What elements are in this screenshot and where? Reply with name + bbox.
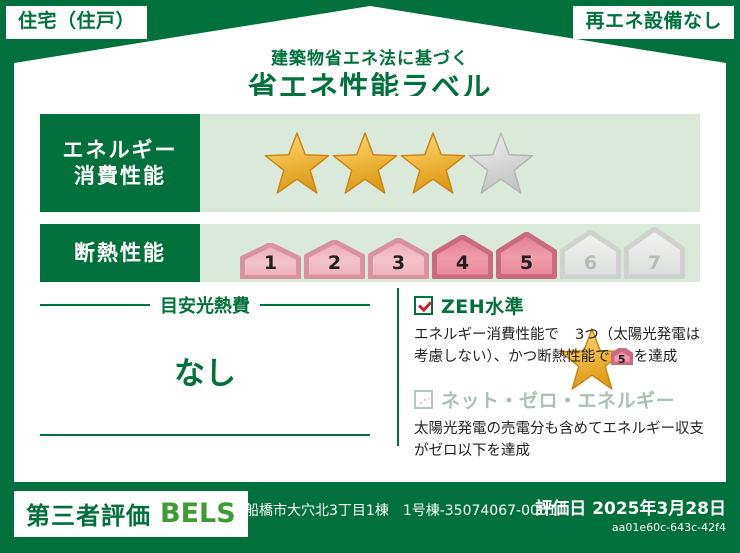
insulation-performance-value: 1234567 [200, 224, 700, 282]
bels-logo: 第三者評価 BELS [14, 491, 248, 537]
insulation-step: 3 [368, 238, 429, 279]
evaluation-info: 評価日 2025年3月28日 aa01e60c-643c-42f4 [535, 494, 726, 534]
badge-renewable-energy: 再エネ設備なし [573, 6, 734, 39]
bels-logo-jp: 第三者評価 [26, 496, 151, 531]
evaluation-date: 評価日 2025年3月28日 [535, 494, 726, 519]
utility-bottom-divider [40, 434, 370, 436]
utility-cost-value: なし [40, 348, 370, 393]
checkbox-checked-icon [414, 296, 433, 315]
energy-label-line2: 消費性能 [74, 163, 166, 189]
criterion-net-zero-header: ネット・ゼロ・エネルギー [414, 386, 710, 413]
insulation-step: 5 [496, 232, 557, 278]
criterion-zeh-description: エネルギー消費性能で3つ（太陽光発電は考慮しない）、かつ断熱性能で5を達成 [414, 324, 710, 369]
criterion-zeh-title: ZEH水準 [441, 292, 524, 319]
insulation-step: 2 [304, 240, 365, 279]
insulation-scale: 1234567 [240, 227, 685, 279]
house-empty-icon [624, 227, 685, 279]
utility-cost-title: 目安光熱費 [40, 292, 370, 318]
insulation-step: 4 [432, 235, 493, 279]
star-filled-icon [400, 130, 466, 196]
energy-performance-value [200, 114, 700, 212]
property-address: 船橋市大穴北3丁目1棟 1号棟-35074067-0001 [245, 500, 557, 520]
star-filled-icon [332, 130, 398, 196]
energy-performance-row: エネルギー 消費性能 [14, 114, 726, 212]
criteria-list: ZEH水準 エネルギー消費性能で3つ（太陽光発電は考慮しない）、かつ断熱性能で5… [414, 292, 710, 463]
insulation-performance-row: 断熱性能 1234567 [14, 224, 726, 282]
badge-building-type: 住宅（住戸） [6, 6, 147, 39]
insulation-performance-label: 断熱性能 [40, 224, 200, 282]
label-body: エネルギー 消費性能 断熱性能 1234567 目安光熱費 なし [14, 96, 726, 482]
house-empty-icon [560, 230, 621, 279]
criterion-net-zero-title: ネット・ゼロ・エネルギー [441, 386, 675, 413]
house-filled-icon [496, 232, 557, 278]
house-badge-icon: 5 [611, 348, 633, 365]
criterion-net-zero-description: 太陽光発電の売電分も含めてエネルギー収支がゼロ以下を達成 [414, 418, 710, 463]
checkbox-unchecked-icon [414, 390, 433, 409]
zeh-desc-part3: を達成 [634, 349, 678, 365]
star-empty-icon [468, 130, 534, 196]
house-filled-icon [368, 238, 429, 279]
insulation-step: 1 [240, 243, 301, 279]
criterion-zeh-header: ZEH水準 [414, 292, 710, 319]
insulation-step: 7 [624, 227, 685, 279]
bels-logo-en: BELS [160, 498, 236, 529]
evaluation-id: aa01e60c-643c-42f4 [535, 521, 726, 534]
star-rating [264, 130, 534, 196]
house-filled-icon [240, 243, 301, 279]
energy-performance-label: エネルギー 消費性能 [40, 114, 200, 212]
house-badge-number: 5 [611, 354, 633, 365]
star-icon [559, 326, 575, 342]
label-footer: 第三者評価 BELS 船橋市大穴北3丁目1棟 1号棟-35074067-0001… [0, 488, 740, 553]
house-filled-icon [432, 235, 493, 279]
zeh-desc-part1: エネルギー消費性能で [414, 327, 559, 343]
energy-label-line1: エネルギー [63, 137, 178, 163]
insulation-step: 6 [560, 230, 621, 279]
house-filled-icon [304, 240, 365, 279]
section-divider [397, 288, 399, 446]
bels-energy-label: 住宅（住戸） 再エネ設備なし 建築物省エネ法に基づく 省エネ性能ラベル エネルギ… [0, 0, 740, 553]
utility-cost-block: 目安光熱費 なし [40, 292, 370, 393]
star-filled-icon [264, 130, 330, 196]
criterion-net-zero: ネット・ゼロ・エネルギー 太陽光発電の売電分も含めてエネルギー収支がゼロ以下を達… [414, 386, 710, 463]
criterion-zeh: ZEH水準 エネルギー消費性能で3つ（太陽光発電は考慮しない）、かつ断熱性能で5… [414, 292, 710, 369]
